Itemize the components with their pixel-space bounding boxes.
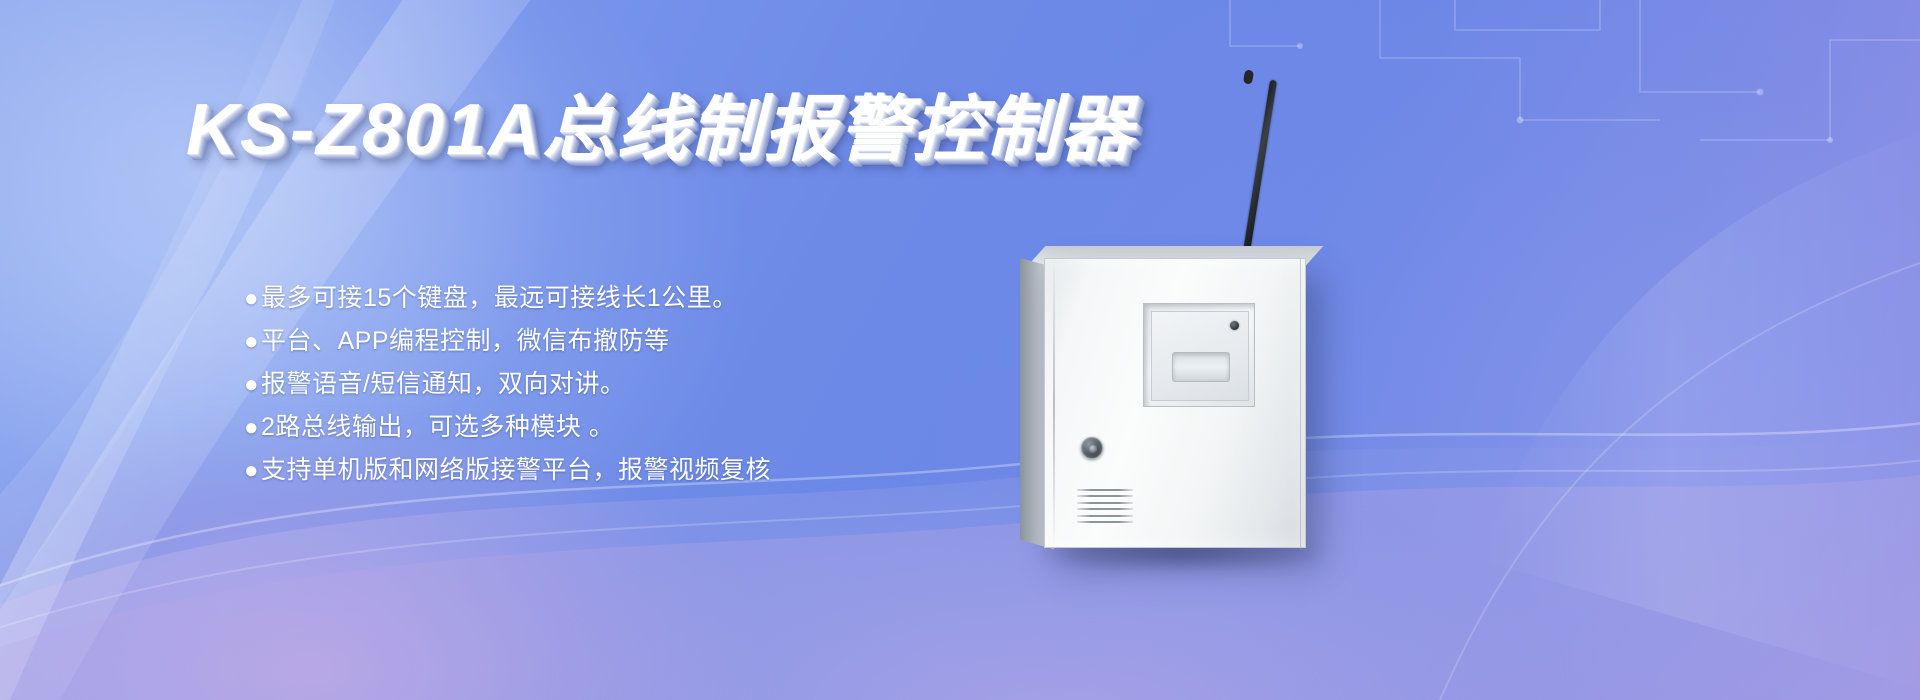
feature-text: 支持单机版和网络版接警平台，报警视频复核 <box>261 458 771 483</box>
key-lock-core <box>1089 445 1097 453</box>
vent-line <box>1077 508 1133 510</box>
feature-text: 平台、APP编程控制，微信布撤防等 <box>261 329 670 354</box>
feature-text: 2路总线输出，可选多种模块 。 <box>261 415 614 440</box>
bullet-dot-icon: ● <box>244 330 259 354</box>
ventilation-louvres <box>1077 489 1133 523</box>
feature-list: ● 最多可接15个键盘，最远可接线长1公里。 ● 平台、APP编程控制，微信布撤… <box>244 286 1004 501</box>
feature-list-item: ● 支持单机版和网络版接警平台，报警视频复核 <box>244 458 1004 483</box>
vent-line <box>1077 515 1133 517</box>
banner-title: KS-Z801A总线制报警控制器 <box>186 70 1134 175</box>
keypad-window-inner <box>1151 311 1249 401</box>
bullet-dot-icon: ● <box>244 459 259 483</box>
feature-list-item: ● 2路总线输出，可选多种模块 。 <box>244 415 1004 440</box>
key-lock-icon <box>1081 437 1103 459</box>
product-image-alarm-control-panel <box>1010 196 1410 596</box>
bullet-dot-icon: ● <box>244 373 259 397</box>
feature-list-item: ● 报警语音/短信通知，双向对讲。 <box>244 372 1004 397</box>
bullet-dot-icon: ● <box>244 416 259 440</box>
vent-line <box>1077 495 1133 497</box>
vent-line <box>1077 521 1133 523</box>
status-led-icon <box>1230 321 1239 330</box>
door-seam-right <box>1300 259 1301 549</box>
feature-list-item: ● 平台、APP编程控制，微信布撤防等 <box>244 329 1004 354</box>
door-seam-left <box>1053 259 1055 549</box>
feature-text: 报警语音/短信通知，双向对讲。 <box>261 372 625 397</box>
feature-list-item: ● 最多可接15个键盘，最远可接线长1公里。 <box>244 286 1004 311</box>
keypad-handle-recess <box>1172 352 1230 382</box>
feature-text: 最多可接15个键盘，最远可接线长1公里。 <box>261 286 738 311</box>
enclosure-front-face <box>1044 258 1306 548</box>
product-banner: KS-Z801A总线制报警控制器 ● 最多可接15个键盘，最远可接线长1公里。 … <box>0 0 1920 700</box>
bullet-dot-icon: ● <box>244 287 259 311</box>
vent-line <box>1077 502 1133 504</box>
keypad-display-window <box>1143 303 1255 407</box>
vent-line <box>1077 489 1133 491</box>
